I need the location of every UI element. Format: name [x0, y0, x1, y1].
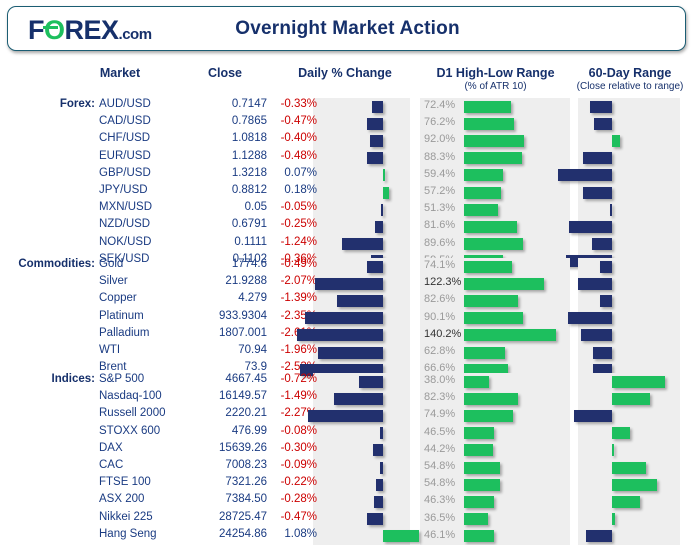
d1-range-bar	[464, 376, 489, 388]
column-header-60day-range: 60-Day Range	[575, 66, 685, 80]
d1-range-bar	[464, 513, 488, 525]
daily-change-value: -1.49%	[265, 390, 317, 402]
section-label: Commodities:	[0, 258, 95, 270]
table-row[interactable]: Forex:AUD/USD0.7147-0.33%72.4%	[0, 98, 695, 115]
table-row[interactable]: FTSE 1007321.26-0.22%54.8%	[0, 476, 695, 493]
d1-range-label: 90.1%	[424, 311, 464, 323]
daily-change-value: 0.07%	[265, 167, 317, 179]
close-value: 0.05	[170, 201, 267, 213]
table-row[interactable]: WTI70.94-1.96%62.8%	[0, 344, 695, 361]
close-value: 7008.23	[170, 459, 267, 471]
daily-change-bar	[383, 169, 385, 181]
close-value: 1807.001	[170, 327, 267, 339]
60day-range-bar	[558, 169, 612, 181]
60day-range-bar	[612, 376, 665, 388]
table-row[interactable]: Indices:S&P 5004667.45-0.72%38.0%	[0, 373, 695, 390]
section-label: Forex:	[0, 98, 95, 110]
daily-change-value: -0.40%	[265, 132, 317, 144]
daily-change-value: -1.96%	[265, 344, 317, 356]
close-value: 4667.45	[170, 373, 267, 385]
60day-range-bar	[592, 238, 612, 250]
section-label: Indices:	[0, 373, 95, 385]
close-value: 1.0818	[170, 132, 267, 144]
column-subheader-d1-range: (% of ATR 10)	[418, 81, 573, 92]
d1-range-label: 74.9%	[424, 408, 464, 420]
60day-range-bar	[612, 462, 646, 474]
60day-range-bar	[590, 101, 612, 113]
daily-change-value: -1.39%	[265, 292, 317, 304]
close-value: 0.1111	[170, 236, 267, 248]
d1-range-bar	[464, 444, 493, 456]
d1-range-bar	[464, 278, 544, 290]
close-value: 0.7147	[170, 98, 267, 110]
daily-change-bar	[359, 376, 383, 388]
60day-range-bar	[612, 393, 650, 405]
close-value: 21.9288	[170, 275, 267, 287]
d1-range-label: 92.0%	[424, 133, 464, 145]
daily-change-value: -0.47%	[265, 511, 317, 523]
d1-range-label: 88.3%	[424, 151, 464, 163]
60day-range-bar	[569, 221, 612, 233]
close-value: 0.6791	[170, 218, 267, 230]
d1-range-bar	[464, 479, 500, 491]
d1-range-label: 82.6%	[424, 293, 464, 305]
d1-range-label: 36.5%	[424, 512, 464, 524]
table-row[interactable]: Commodities:Gold1774.6-0.49%74.1%	[0, 258, 695, 275]
section-forex: Forex:AUD/USD0.7147-0.33%72.4%CAD/USD0.7…	[0, 98, 695, 270]
d1-range-label: 46.5%	[424, 426, 464, 438]
60day-range-bar	[612, 513, 615, 525]
60day-range-bar	[594, 118, 612, 130]
daily-change-value: -1.24%	[265, 236, 317, 248]
daily-change-value: -0.48%	[265, 150, 317, 162]
daily-change-bar	[374, 496, 383, 508]
daily-change-bar	[381, 204, 383, 216]
table-row[interactable]: Silver21.9288-2.07%122.3%	[0, 275, 695, 292]
60day-range-bar	[600, 295, 612, 307]
d1-range-label: 44.2%	[424, 443, 464, 455]
close-value: 0.8812	[170, 184, 267, 196]
table-row[interactable]: MXN/USD0.05-0.05%51.3%	[0, 201, 695, 218]
section-commodities: Commodities:Gold1774.6-0.49%74.1%Silver2…	[0, 258, 695, 378]
table-row[interactable]: Platinum933.9304-2.35%90.1%	[0, 310, 695, 327]
table-row[interactable]: Nikkei 22528725.47-0.47%36.5%	[0, 511, 695, 528]
d1-range-bar	[464, 101, 511, 113]
close-value: 15639.26	[170, 442, 267, 454]
daily-change-bar	[337, 295, 383, 307]
table-row[interactable]: Palladium1807.001-2.61%140.2%	[0, 327, 695, 344]
d1-range-bar	[464, 187, 501, 199]
daily-change-bar	[367, 261, 383, 273]
d1-range-bar	[464, 261, 512, 273]
close-value: 70.94	[170, 344, 267, 356]
d1-range-label: 59.4%	[424, 168, 464, 180]
d1-range-bar	[464, 347, 505, 359]
daily-change-bar	[334, 393, 383, 405]
daily-change-bar	[376, 479, 383, 491]
page-title: Overnight Market Action	[8, 18, 687, 40]
daily-change-value: -0.49%	[265, 258, 317, 270]
d1-range-bar	[464, 204, 498, 216]
daily-change-bar	[370, 135, 383, 147]
d1-range-label: 140.2%	[424, 328, 464, 340]
daily-change-value: -0.30%	[265, 442, 317, 454]
daily-change-value: -0.05%	[265, 201, 317, 213]
60day-range-bar	[578, 278, 612, 290]
daily-change-value: -0.22%	[265, 476, 317, 488]
60day-range-bar	[612, 479, 657, 491]
60day-range-bar	[612, 496, 640, 508]
60day-range-bar	[612, 135, 620, 147]
60day-range-bar	[586, 530, 612, 542]
daily-change-value: -0.25%	[265, 218, 317, 230]
daily-change-bar	[380, 462, 383, 474]
d1-range-bar	[464, 238, 523, 250]
table-row[interactable]: JPY/USD0.88120.18%57.2%	[0, 184, 695, 201]
d1-range-bar	[464, 329, 556, 341]
column-header-close: Close	[185, 66, 265, 80]
d1-range-bar	[464, 312, 523, 324]
daily-change-bar	[380, 427, 383, 439]
title-bar: FOREX.com Overnight Market Action	[7, 6, 686, 51]
d1-range-label: 57.2%	[424, 185, 464, 197]
daily-change-bar	[367, 152, 383, 164]
table-row[interactable]: Nasdaq-10016149.57-1.49%82.3%	[0, 390, 695, 407]
daily-change-bar	[372, 101, 383, 113]
table-row[interactable]: Copper4.279-1.39%82.6%	[0, 292, 695, 309]
table-row[interactable]: NOK/USD0.1111-1.24%89.6%	[0, 236, 695, 253]
d1-range-label: 54.8%	[424, 477, 464, 489]
daily-change-value: 1.08%	[265, 528, 317, 540]
close-value: 933.9304	[170, 310, 267, 322]
close-value: 16149.57	[170, 390, 267, 402]
close-value: 7321.26	[170, 476, 267, 488]
d1-range-label: 46.3%	[424, 494, 464, 506]
d1-range-label: 82.3%	[424, 391, 464, 403]
table-row[interactable]: CAC7008.23-0.09%54.8%	[0, 459, 695, 476]
daily-change-bar	[375, 221, 383, 233]
daily-change-bar	[373, 444, 383, 456]
daily-change-bar	[305, 312, 383, 324]
column-header-d1-range: D1 High-Low Range	[418, 66, 573, 80]
close-value: 7384.50	[170, 493, 267, 505]
d1-range-label: 54.8%	[424, 460, 464, 472]
60day-range-bar	[568, 312, 612, 324]
d1-range-bar	[464, 462, 500, 474]
daily-change-bar	[308, 410, 383, 422]
d1-range-bar	[464, 152, 522, 164]
d1-range-label: 74.1%	[424, 259, 464, 271]
daily-change-value: 0.18%	[265, 184, 317, 196]
column-header-market: Market	[60, 66, 180, 80]
60day-range-bar	[600, 261, 612, 273]
table-row[interactable]: NZD/USD0.6791-0.25%81.6%	[0, 218, 695, 235]
daily-change-bar	[342, 238, 383, 250]
column-header-daily-change: Daily % Change	[280, 66, 410, 80]
d1-range-label: 38.0%	[424, 374, 464, 386]
d1-range-bar	[464, 118, 514, 130]
d1-range-bar	[464, 410, 513, 422]
60day-range-bar	[593, 347, 612, 359]
close-value: 1774.6	[170, 258, 267, 270]
d1-range-bar	[464, 427, 494, 439]
60day-range-bar	[583, 152, 612, 164]
daily-change-bar	[367, 118, 383, 130]
d1-range-bar	[464, 393, 518, 405]
table-row[interactable]: CAD/USD0.7865-0.47%76.2%	[0, 115, 695, 132]
daily-change-value: -0.28%	[265, 493, 317, 505]
close-value: 4.279	[170, 292, 267, 304]
close-value: 73.9	[170, 361, 267, 373]
d1-range-bar	[464, 496, 494, 508]
60day-range-bar	[583, 187, 612, 199]
table-row[interactable]: DAX15639.26-0.30%44.2%	[0, 442, 695, 459]
table-row[interactable]: Hang Seng24254.861.08%46.1%	[0, 528, 695, 545]
close-value: 24254.86	[170, 528, 267, 540]
close-value: 1.3218	[170, 167, 267, 179]
daily-change-value: -2.07%	[265, 275, 317, 287]
table-row[interactable]: CHF/USD1.0818-0.40%92.0%	[0, 132, 695, 149]
daily-change-bar	[297, 329, 383, 341]
60day-range-bar	[581, 329, 612, 341]
d1-range-label: 51.3%	[424, 202, 464, 214]
section-indices: Indices:S&P 5004667.45-0.72%38.0%Nasdaq-…	[0, 373, 695, 545]
close-value: 476.99	[170, 425, 267, 437]
daily-change-value: -0.09%	[265, 459, 317, 471]
column-subheader-60day-range: (Close relative to range)	[565, 81, 695, 92]
close-value: 0.7865	[170, 115, 267, 127]
d1-range-label: 72.4%	[424, 99, 464, 111]
close-value: 2220.21	[170, 407, 267, 419]
d1-range-bar	[464, 169, 503, 181]
daily-change-bar	[383, 187, 389, 199]
table-row[interactable]: GBP/USD1.32180.07%59.4%	[0, 167, 695, 184]
daily-change-value: -0.33%	[265, 98, 317, 110]
daily-change-bar	[367, 513, 383, 525]
60day-range-bar	[612, 427, 630, 439]
d1-range-label: 89.6%	[424, 237, 464, 249]
d1-range-label: 122.3%	[424, 276, 464, 288]
d1-range-bar	[464, 530, 494, 542]
daily-change-value: -0.72%	[265, 373, 317, 385]
d1-range-bar	[464, 221, 517, 233]
table-row[interactable]: EUR/USD1.1288-0.48%88.3%	[0, 150, 695, 167]
60day-range-bar	[610, 204, 612, 216]
daily-change-value: -0.08%	[265, 425, 317, 437]
d1-range-label: 76.2%	[424, 116, 464, 128]
close-value: 1.1288	[170, 150, 267, 162]
close-value: 28725.47	[170, 511, 267, 523]
daily-change-bar	[383, 530, 419, 542]
d1-range-bar	[464, 295, 518, 307]
60day-range-bar	[574, 410, 612, 422]
d1-range-label: 62.8%	[424, 345, 464, 357]
table-row[interactable]: ASX 2007384.50-0.28%46.3%	[0, 493, 695, 510]
table-row[interactable]: Russell 20002220.21-2.27%74.9%	[0, 407, 695, 424]
table-row[interactable]: STOXX 600476.99-0.08%46.5%	[0, 425, 695, 442]
d1-range-label: 81.6%	[424, 219, 464, 231]
daily-change-value: -0.47%	[265, 115, 317, 127]
60day-range-bar	[612, 444, 614, 456]
d1-range-bar	[464, 135, 524, 147]
daily-change-bar	[315, 278, 383, 290]
daily-change-bar	[318, 347, 383, 359]
